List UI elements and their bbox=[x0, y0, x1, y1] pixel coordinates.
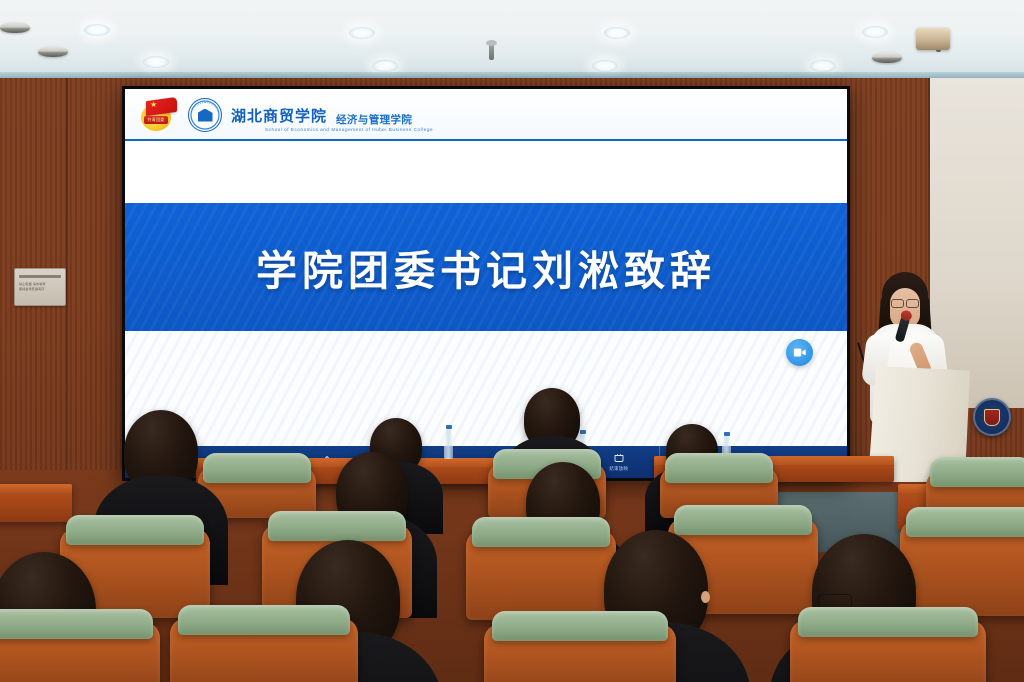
bottle-cap bbox=[724, 432, 730, 436]
slide-org-title: 湖北商贸学院 bbox=[231, 105, 327, 126]
school-crest-emblem bbox=[973, 398, 1011, 436]
crest-shield bbox=[984, 409, 1000, 426]
fire-sprinkler bbox=[489, 44, 494, 60]
ceiling-downlight bbox=[862, 26, 888, 38]
slide-org-title-en: School of Economics and Management of Hu… bbox=[265, 127, 433, 132]
projection-screen[interactable]: ★ 共青团委 湖北商贸学院 经济与管理学院 School of Economic… bbox=[125, 89, 847, 478]
smoke-detector bbox=[0, 22, 30, 33]
slide-header: ★ 共青团委 湖北商贸学院 经济与管理学院 School of Economic… bbox=[125, 89, 847, 141]
auditorium-seat bbox=[790, 620, 986, 682]
ceiling-downlight bbox=[604, 27, 630, 39]
slide-lower-band bbox=[125, 331, 847, 451]
seat-cushion bbox=[178, 605, 351, 635]
water-bottle bbox=[444, 433, 453, 459]
seat-cushion bbox=[203, 453, 312, 483]
slide-upper-band bbox=[125, 141, 847, 203]
star-icon: ★ bbox=[150, 101, 157, 109]
seat-cushion bbox=[665, 453, 774, 483]
seat-cushion bbox=[66, 515, 204, 545]
slide-main-title: 学院团委书记刘淞致辞 bbox=[256, 237, 716, 297]
ceiling-downlight bbox=[810, 60, 836, 72]
communist-youth-league-emblem: ★ 共青团委 bbox=[139, 98, 179, 132]
smoke-detector bbox=[872, 52, 902, 63]
video-play-icon[interactable] bbox=[786, 339, 813, 366]
exit-show-icon bbox=[613, 453, 625, 465]
seat-cushion bbox=[268, 511, 406, 541]
projection-screen-frame: ★ 共青团委 湖北商贸学院 经济与管理学院 School of Economic… bbox=[122, 86, 850, 481]
seat-cushion bbox=[906, 507, 1024, 537]
eyeglasses-icon bbox=[890, 299, 920, 306]
ceiling-downlight bbox=[349, 27, 375, 39]
ceiling bbox=[0, 0, 1024, 82]
smoke-detector bbox=[38, 46, 68, 57]
auditorium-seat bbox=[900, 520, 1024, 616]
university-seal-emblem bbox=[188, 98, 222, 132]
seat-cushion bbox=[472, 517, 610, 547]
ceiling-downlight bbox=[592, 60, 618, 72]
league-ribbon-label: 共青团委 bbox=[144, 116, 168, 124]
ceiling-downlight bbox=[372, 60, 398, 72]
seat-cushion bbox=[930, 457, 1024, 487]
eyeglasses-icon bbox=[396, 494, 412, 502]
audience-member bbox=[524, 388, 580, 450]
seat-cushion bbox=[798, 607, 978, 637]
header-divider bbox=[125, 139, 847, 142]
slide-org-subtitle: 经济与管理学院 bbox=[336, 112, 412, 127]
wall-placard: 禁止吸烟 请勿喧哗 保持会场安静有序 bbox=[14, 268, 66, 306]
ceiling-downlight bbox=[143, 56, 169, 68]
desk-surface bbox=[0, 484, 72, 493]
seat-cushion bbox=[0, 609, 153, 639]
seat-cushion bbox=[492, 611, 669, 641]
auditorium-seat bbox=[0, 622, 160, 682]
lecture-hall-scene: 禁止吸烟 请勿喧哗 保持会场安静有序 ★ 共青团委 湖北商贸学院 bbox=[0, 0, 1024, 682]
auditorium-seat bbox=[170, 618, 358, 682]
ceiling-downlight bbox=[84, 24, 110, 36]
bottle-cap bbox=[446, 425, 452, 429]
placard-rule bbox=[19, 275, 61, 278]
bottle-cap bbox=[580, 430, 586, 434]
ceiling-vent bbox=[916, 28, 950, 50]
slide-title-band: 学院团委书记刘淞致辞 bbox=[125, 203, 847, 331]
desk-front-left bbox=[0, 484, 72, 522]
auditorium-seat bbox=[466, 530, 616, 620]
placard-line-2: 保持会场安静有序 bbox=[19, 287, 61, 292]
audience-member bbox=[124, 410, 198, 494]
auditorium-seat bbox=[484, 624, 676, 682]
exit-show-label: 结束放映 bbox=[609, 466, 628, 472]
